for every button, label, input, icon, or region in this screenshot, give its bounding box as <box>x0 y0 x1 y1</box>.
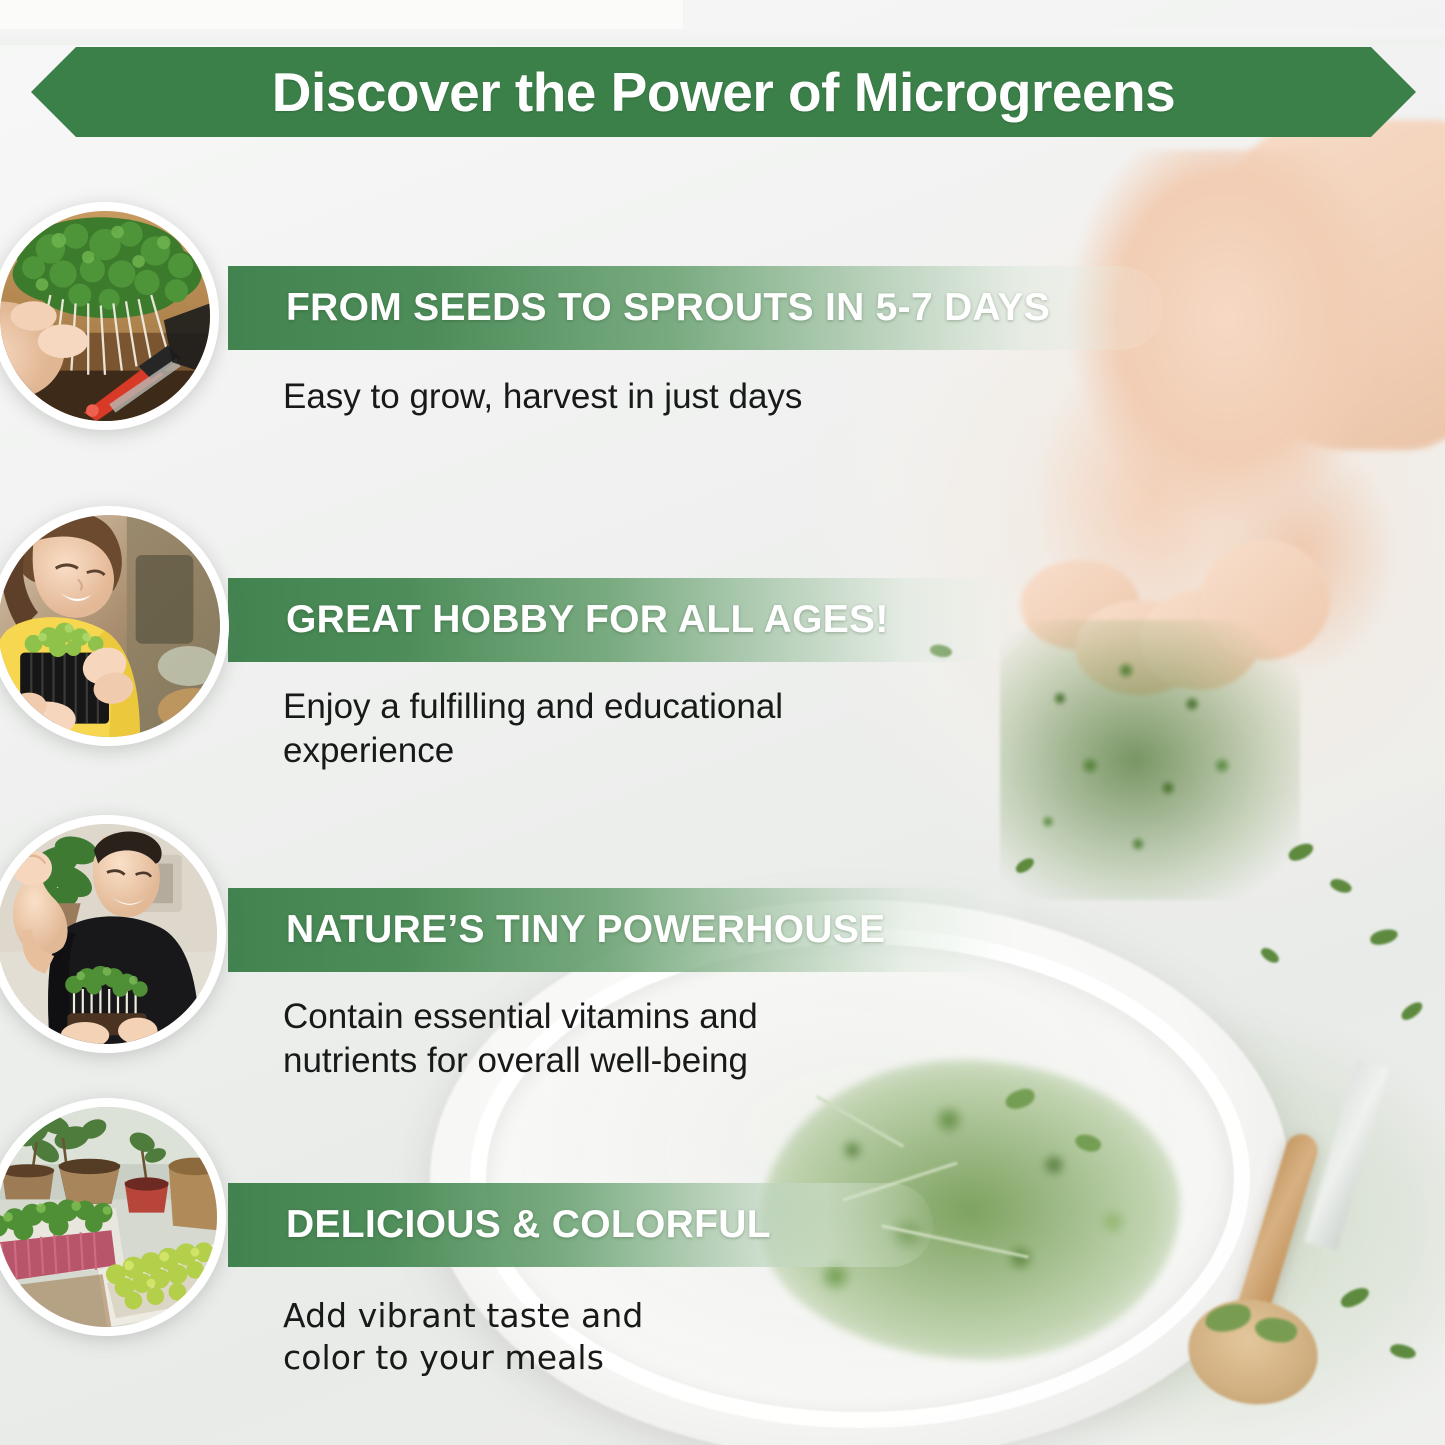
feature-bar-seeds-to-sprouts: FROM SEEDS TO SPROUTS IN 5-7 DAYS <box>228 266 1163 350</box>
feature-headline: NATURE’S TINY POWERHOUSE <box>228 908 885 952</box>
feature-bar-delicious-colorful: DELICIOUS & COLORFUL <box>228 1183 933 1267</box>
sprout-speck <box>1328 876 1353 896</box>
header-banner: Discover the Power of Microgreens <box>31 47 1416 137</box>
feature-subtext-delicious-colorful: Add vibrant taste and color to your meal… <box>283 1295 643 1378</box>
feature-subtext-seeds-to-sprouts: Easy to grow, harvest in just days <box>283 375 802 419</box>
feature-headline: FROM SEEDS TO SPROUTS IN 5-7 DAYS <box>228 286 1050 330</box>
feature-subtext-great-hobby: Enjoy a fulfilling and educational exper… <box>283 685 783 773</box>
background-top-left-panel <box>0 0 683 29</box>
background-top-strip <box>0 29 1445 45</box>
feature-headline: GREAT HOBBY FOR ALL AGES! <box>228 598 889 642</box>
sprout-speck <box>1259 945 1281 966</box>
feature-photo-hand-harvesting-microgreens-with-scissors <box>0 202 219 430</box>
knife-shape <box>1304 1059 1389 1251</box>
feature-bar-great-hobby: GREAT HOBBY FOR ALL AGES! <box>228 578 1028 662</box>
feature-photo-girl-holding-microgreens-tray <box>0 506 229 746</box>
sprout-speck <box>1369 928 1399 947</box>
feature-subtext-tiny-powerhouse: Contain essential vitamins and nutrients… <box>283 995 758 1083</box>
microgreens-in-hand <box>1000 620 1300 900</box>
feature-bar-tiny-powerhouse: NATURE’S TINY POWERHOUSE <box>228 888 1028 972</box>
feature-headline: DELICIOUS & COLORFUL <box>228 1203 771 1247</box>
sprout-speck <box>1338 1285 1371 1310</box>
poster-root: Discover the Power of Microgreens FROM S… <box>0 0 1445 1445</box>
page-title: Discover the Power of Microgreens <box>272 60 1176 124</box>
sprout-speck <box>1389 1341 1418 1361</box>
sprout-speck <box>1399 1000 1426 1023</box>
